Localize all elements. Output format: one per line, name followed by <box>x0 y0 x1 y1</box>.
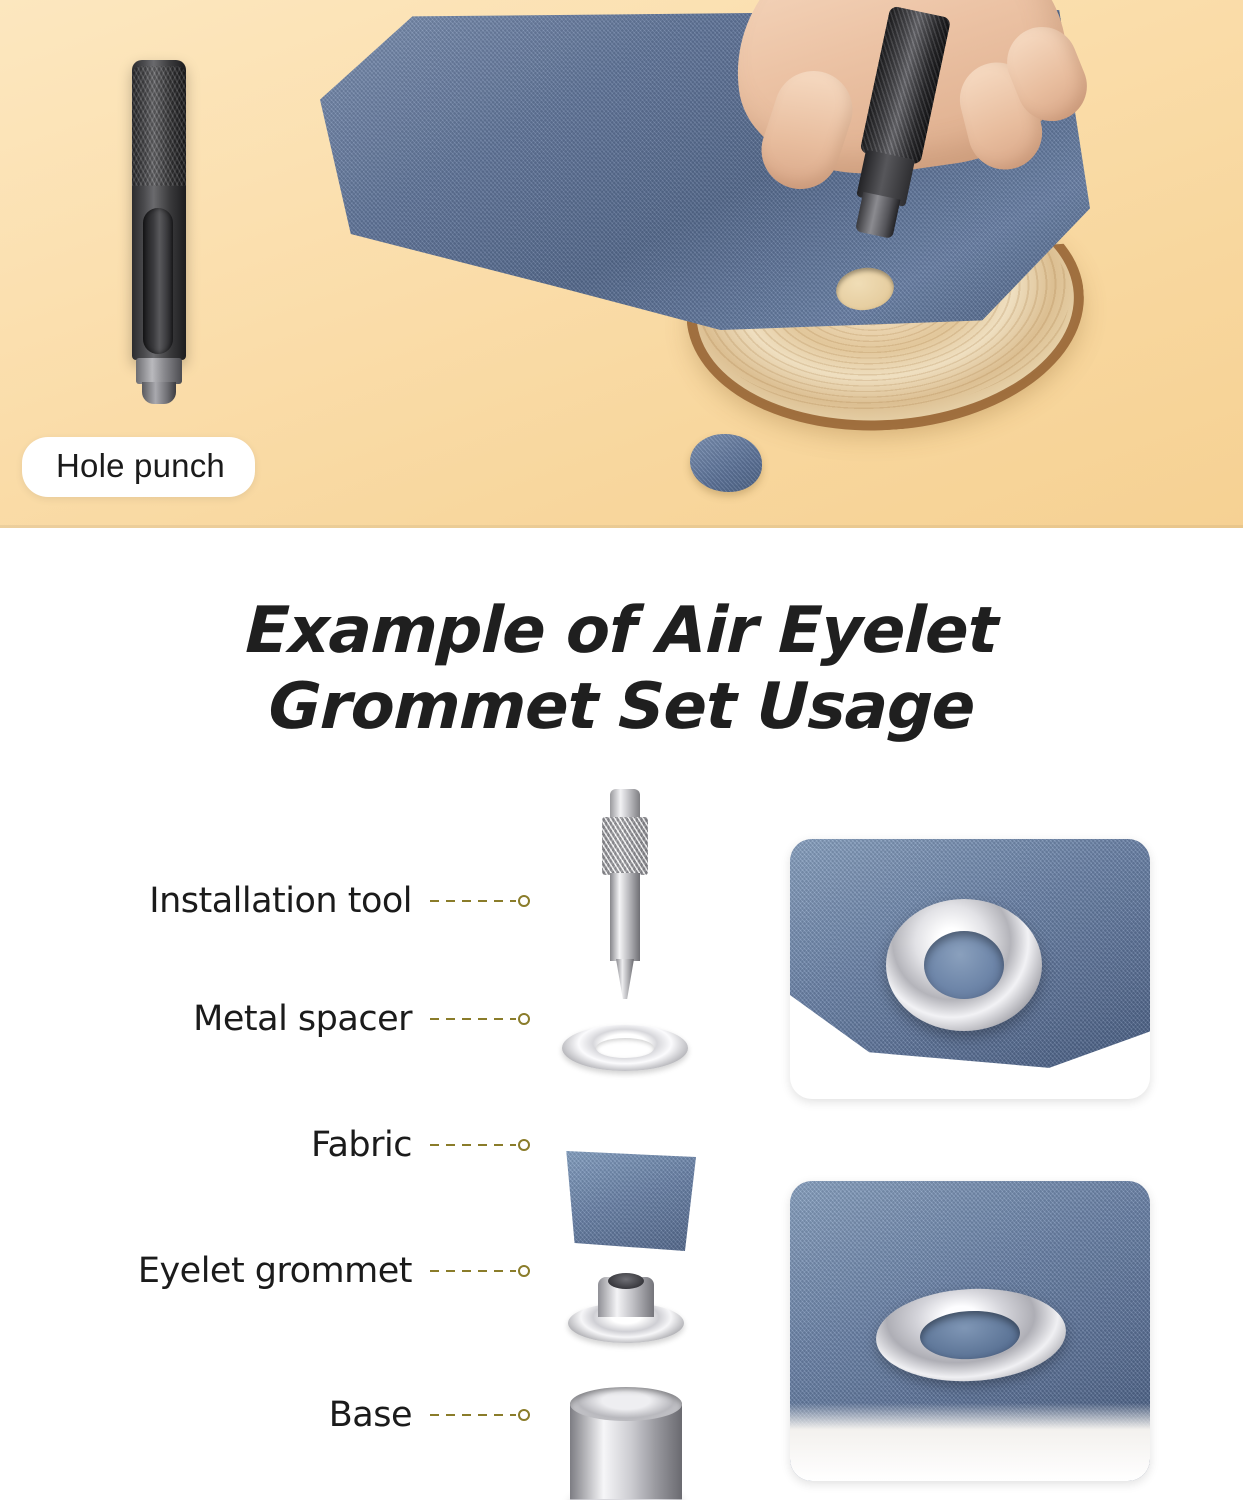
punch-body-held <box>859 5 951 165</box>
top-photo-panel: Hole punch <box>0 0 1243 528</box>
fabric-swatch-image <box>558 1151 696 1251</box>
label-text-installation-tool: Installation tool <box>149 881 412 921</box>
diagram-label-installation-tool: Installation tool <box>0 881 530 921</box>
label-text-metal-spacer: Metal spacer <box>193 999 412 1039</box>
punch-tip-held <box>855 192 900 239</box>
leader-line-icon <box>430 1018 516 1020</box>
diagram-label-eyelet-grommet: Eyelet grommet <box>0 1251 530 1291</box>
result-photo-front <box>790 839 1150 1099</box>
leader-dot-icon <box>518 1409 530 1421</box>
leader-dot-icon <box>518 1265 530 1277</box>
punch-tip <box>142 382 176 404</box>
diagram-part-images <box>540 781 770 1500</box>
leader-line-icon <box>430 1144 516 1146</box>
installed-eyelet-front <box>886 899 1042 1031</box>
leader-line-icon <box>430 1414 516 1416</box>
diagram-label-fabric: Fabric <box>0 1125 530 1165</box>
base-anvil-image <box>570 1387 682 1500</box>
installation-tool-image <box>596 789 654 999</box>
tool-tip <box>616 959 634 999</box>
hole-punch-label: Hole punch <box>22 437 255 497</box>
photo-bottom-fade <box>790 1403 1150 1481</box>
tool-knurl <box>602 817 648 875</box>
punch-grip <box>143 208 173 354</box>
result-photo-angled <box>790 1181 1150 1481</box>
page-title: Example of Air Eyelet Grommet Set Usage <box>0 594 1243 745</box>
eyelet-grommet-image <box>568 1277 684 1343</box>
punch-knurl-texture <box>132 66 186 186</box>
leader-line-icon <box>430 900 516 902</box>
label-text-fabric: Fabric <box>311 1125 412 1165</box>
leader-dot-icon <box>518 1013 530 1025</box>
tool-shaft <box>610 873 640 961</box>
diagram-label-metal-spacer: Metal spacer <box>0 999 530 1039</box>
usage-diagram: Installation tool Metal spacer Fabric Ey… <box>0 781 1243 1500</box>
punch-ferrule <box>136 358 182 384</box>
tool-cap <box>610 789 640 819</box>
label-text-base: Base <box>329 1395 412 1435</box>
diagram-label-base: Base <box>0 1395 530 1435</box>
hole-punch-tool-image <box>128 60 190 420</box>
leader-dot-icon <box>518 1139 530 1151</box>
title-line-2: Grommet Set Usage <box>59 670 1185 746</box>
metal-spacer-image <box>562 1025 688 1071</box>
punched-denim-scrap <box>690 434 762 492</box>
base-top-recess <box>570 1387 682 1421</box>
leader-line-icon <box>430 1270 516 1272</box>
title-line-1: Example of Air Eyelet <box>59 594 1185 670</box>
label-text-eyelet-grommet: Eyelet grommet <box>138 1251 412 1291</box>
grommet-hole <box>608 1273 644 1289</box>
leader-dot-icon <box>518 895 530 907</box>
